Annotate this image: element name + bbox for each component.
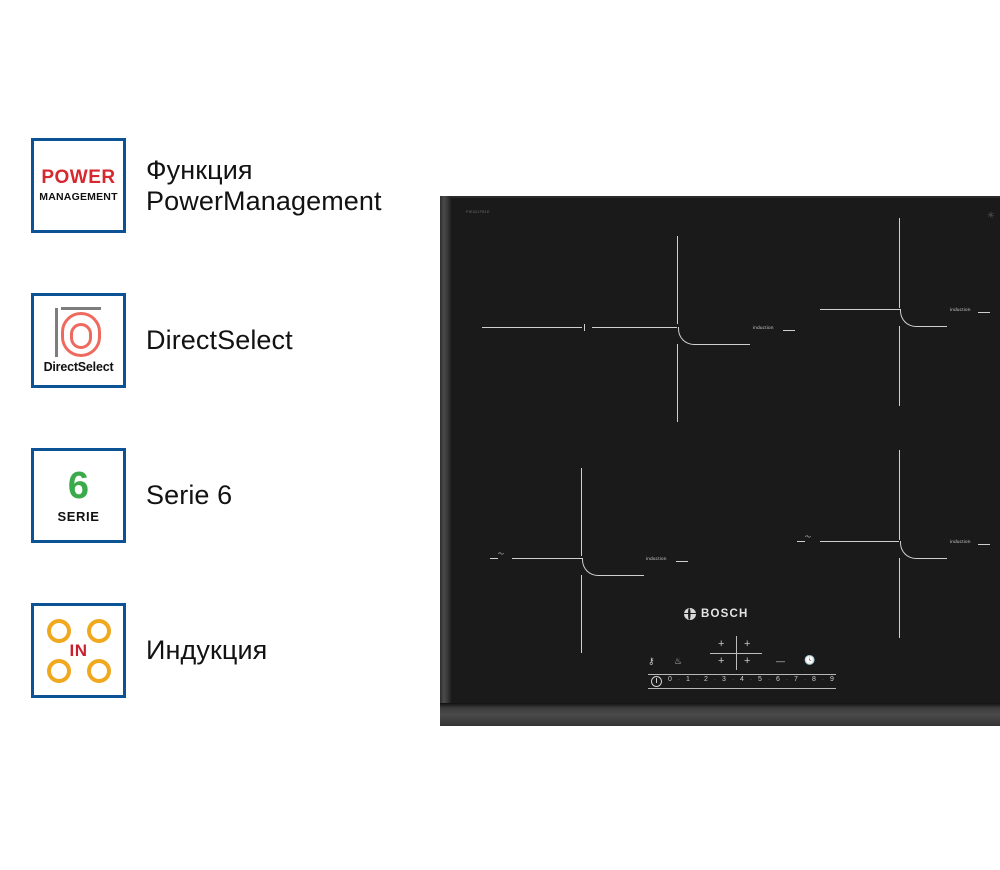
direct-select-hbar [61,307,101,310]
zone-plus-rear-right[interactable]: + [744,639,750,650]
zone-label-rear-left: induction [753,325,774,330]
cooktop-product-image: PIE631FB1E ✳ induction i [440,196,1000,726]
slider-bottom-rule [648,688,836,689]
cooktop-bottom-bevel-edge [440,703,1000,726]
cooktop-glass-surface: PIE631FB1E ✳ induction i [450,196,1000,704]
slider-digit-6[interactable]: 6 [776,676,780,684]
feature-item-induction: IN Индукция [31,603,267,698]
zone-selector-grid[interactable]: + + + + [710,636,762,670]
power-management-icon: POWER MANAGEMENT [31,138,126,233]
bosch-logo: BOSCH [684,608,749,620]
badge-title-power: POWER [41,168,115,188]
power-icon[interactable] [651,676,662,687]
slider-top-rule [648,674,836,675]
feature-label-serie-6: Serie 6 [146,480,232,511]
flex-mark-front-right: 〜 [805,535,811,541]
feature-item-serie-6: 6 SERIE Serie 6 [31,448,232,543]
bosch-wordmark: BOSCH [701,608,749,620]
feature-label-induction: Индукция [146,635,267,666]
slider-digit-2[interactable]: 2 [704,676,708,684]
badge-subtitle-management: MANAGEMENT [39,191,117,204]
cooktop-top-edge [450,196,1000,198]
slider-digit-8[interactable]: 8 [812,676,816,684]
induction-ring-top-right [87,619,111,643]
bosch-emblem-icon [684,608,696,620]
slider-dot: · [714,676,716,684]
timer-clock-icon[interactable]: 🕓 [804,656,815,665]
zone-plus-front-right[interactable]: + [744,656,750,667]
feature-item-power-management: POWER MANAGEMENT Функция PowerManagement [31,138,382,233]
cooktop-model-marking: PIE631FB1E [466,210,490,215]
slider-digit-5[interactable]: 5 [758,676,762,684]
cooktop-control-panel[interactable]: ⚷ ♨ + + + + — 🕓 0 [648,636,878,696]
induction-ring-top-left [47,619,71,643]
serie-6-icon: 6 SERIE [31,448,126,543]
slider-digit-4[interactable]: 4 [740,676,744,684]
slider-dot: · [804,676,806,684]
badge-subtitle-serie: SERIE [57,509,99,524]
feature-list: POWER MANAGEMENT Функция PowerManagement… [0,0,440,870]
pan-detection-icon[interactable]: ♨ [674,657,682,666]
product-feature-page: POWER MANAGEMENT Функция PowerManagement… [0,0,1000,870]
feature-item-direct-select: DirectSelect DirectSelect [31,293,293,388]
slider-digit-0[interactable]: 0 [668,676,672,684]
slider-dot: · [732,676,734,684]
slider-dot: · [822,676,824,684]
cooktop-corner-marking: ✳ [986,209,995,221]
feature-label-direct-select: DirectSelect [146,325,293,356]
slider-digit-3[interactable]: 3 [722,676,726,684]
feature-label-power-management: Функция PowerManagement [146,155,382,217]
zone-plus-rear-left[interactable]: + [718,639,724,650]
induction-icon: IN [31,603,126,698]
slider-dot: · [768,676,770,684]
zone-plus-front-left[interactable]: + [718,656,724,667]
slider-digit-9[interactable]: 9 [830,676,834,684]
slider-digit-1[interactable]: 1 [686,676,690,684]
slider-digit-7[interactable]: 7 [794,676,798,684]
direct-select-bar [55,308,58,357]
induction-glyph: IN [44,616,114,686]
power-level-slider[interactable]: 0 · 1 · 2 · 3 · 4 · 5 · 6 · 7 [648,674,836,689]
zone-label-rear-right: induction [950,307,971,312]
badge-title-in: IN [44,641,114,661]
slider-dot: · [678,676,680,684]
zone-label-front-left: induction [646,556,667,561]
induction-ring-bottom-right [87,659,111,683]
slider-digit-scale[interactable]: 0 · 1 · 2 · 3 · 4 · 5 · 6 · 7 [668,676,834,684]
grid-divider-horizontal [710,653,762,654]
slider-dot: · [786,676,788,684]
key-lock-icon[interactable]: ⚷ [648,657,655,666]
induction-ring-bottom-left [47,659,71,683]
direct-select-glyph [48,303,110,359]
minus-icon[interactable]: — [776,657,785,666]
slider-dot: · [750,676,752,684]
flex-mark-front-left: 〜 [498,552,504,558]
cooktop-left-bevel-edge [440,196,451,726]
zone-label-front-right: induction [950,539,971,544]
badge-subtitle-direct-select: DirectSelect [44,360,114,374]
direct-select-inner-ring [70,323,92,349]
badge-title-six: 6 [68,467,89,505]
direct-select-icon: DirectSelect [31,293,126,388]
slider-dot: · [696,676,698,684]
